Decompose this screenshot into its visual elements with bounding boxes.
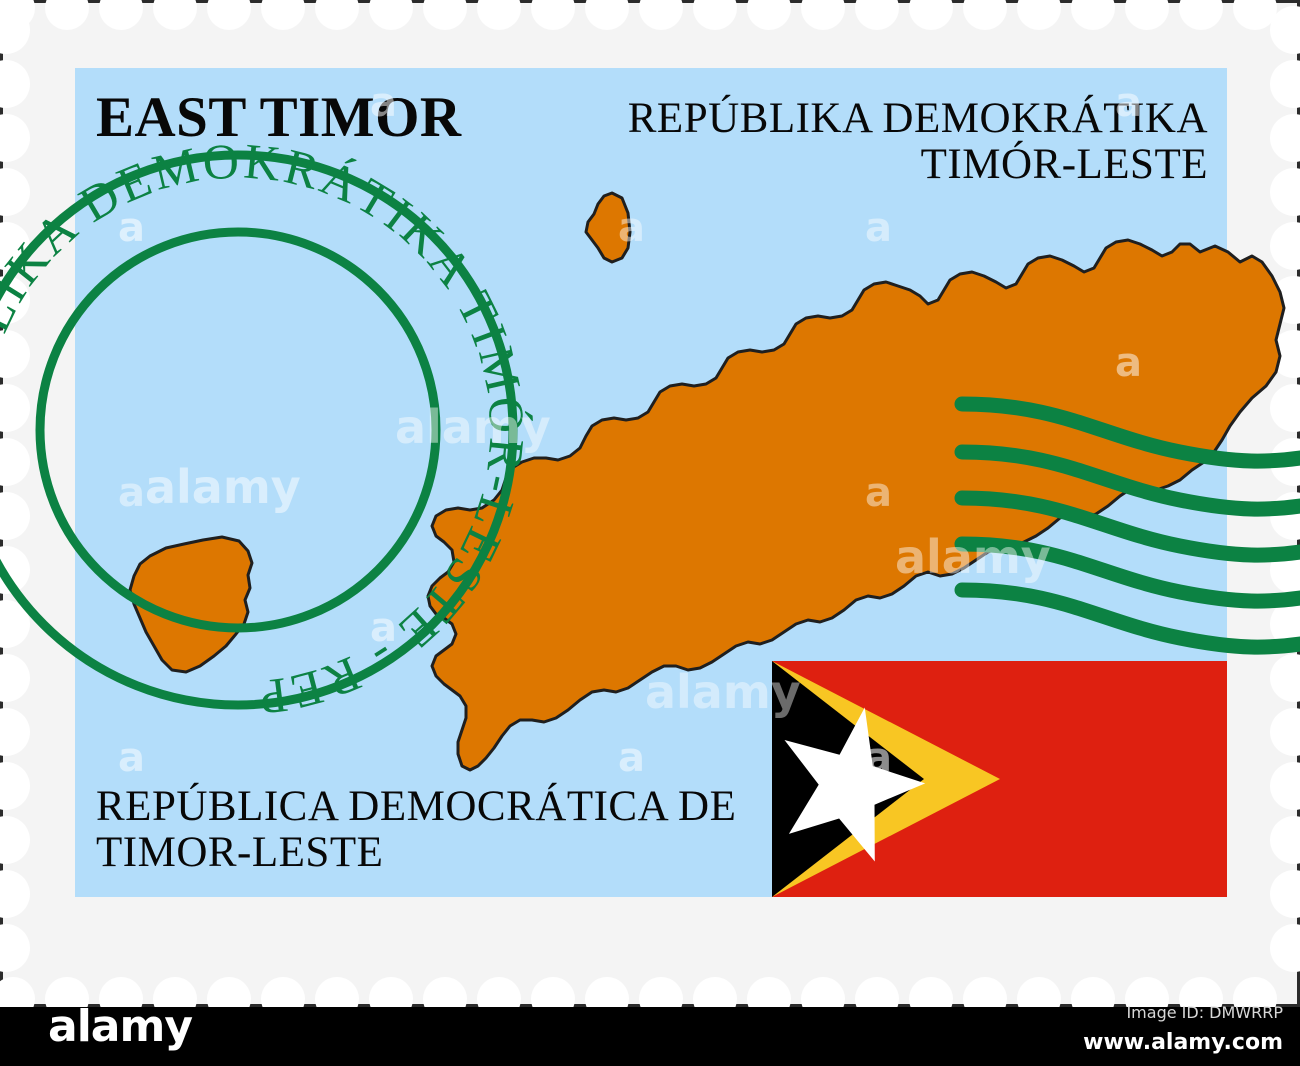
alamy-logo: alamy xyxy=(48,1005,192,1049)
image-id-label: Image ID: DMWRRP xyxy=(983,1003,1283,1022)
stamp-image: REPÚBLIKA DEMOKRÁTIKA TIMÓR-LESTE - REPÚ… xyxy=(0,0,1300,1066)
east-timor-flag xyxy=(772,661,1227,897)
title-portuguese: REPÚBLICA DEMOCRÁTICA DE TIMOR-LESTE xyxy=(96,784,856,875)
title-tetum: REPÚBLIKA DEMOKRÁTIKA TIMÓR-LESTE xyxy=(508,96,1208,187)
page-title: EAST TIMOR xyxy=(96,88,462,148)
alamy-url-label: www.alamy.com xyxy=(983,1030,1283,1055)
